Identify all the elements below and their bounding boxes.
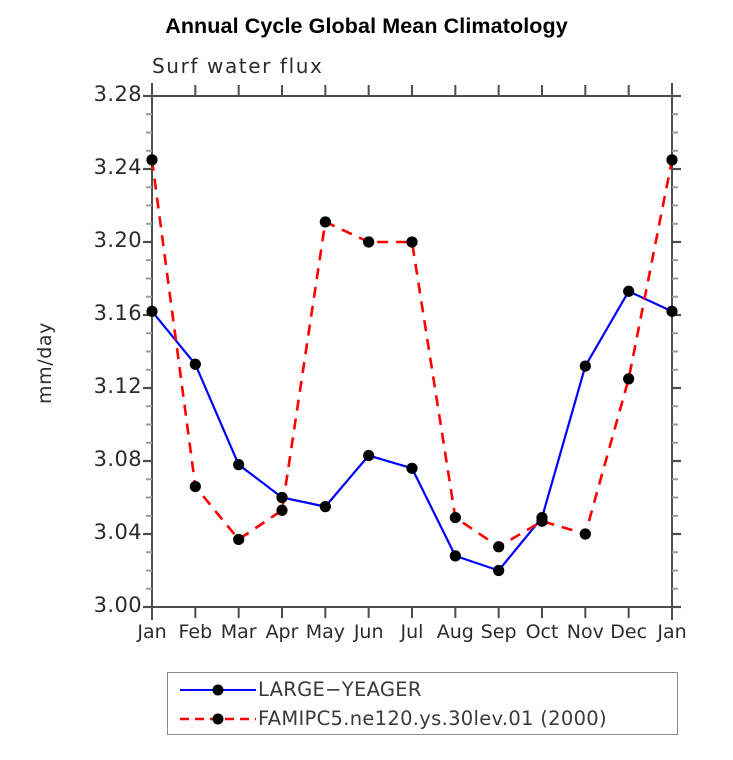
x-tick-label: Jan xyxy=(642,621,702,643)
chart-page: Annual Cycle Global Mean Climatology Sur… xyxy=(0,0,733,760)
legend-item-famipc5: FAMIPC5.ne120.ys.30lev.01 (2000) xyxy=(168,703,677,734)
legend-item-large-yeager: LARGE−YEAGER xyxy=(168,674,677,705)
axes-frame xyxy=(143,83,681,620)
legend-sample-solid-line xyxy=(178,680,258,700)
legend-label-1: FAMIPC5.ne120.ys.30lev.01 (2000) xyxy=(258,707,607,730)
plot-area xyxy=(0,0,733,760)
legend-label-0: LARGE−YEAGER xyxy=(258,678,422,701)
data-series-group xyxy=(146,154,677,576)
legend-sample-dashed-line xyxy=(178,709,258,729)
chart-legend: LARGE−YEAGER FAMIPC5.ne120.ys.30lev.01 (… xyxy=(167,672,678,735)
